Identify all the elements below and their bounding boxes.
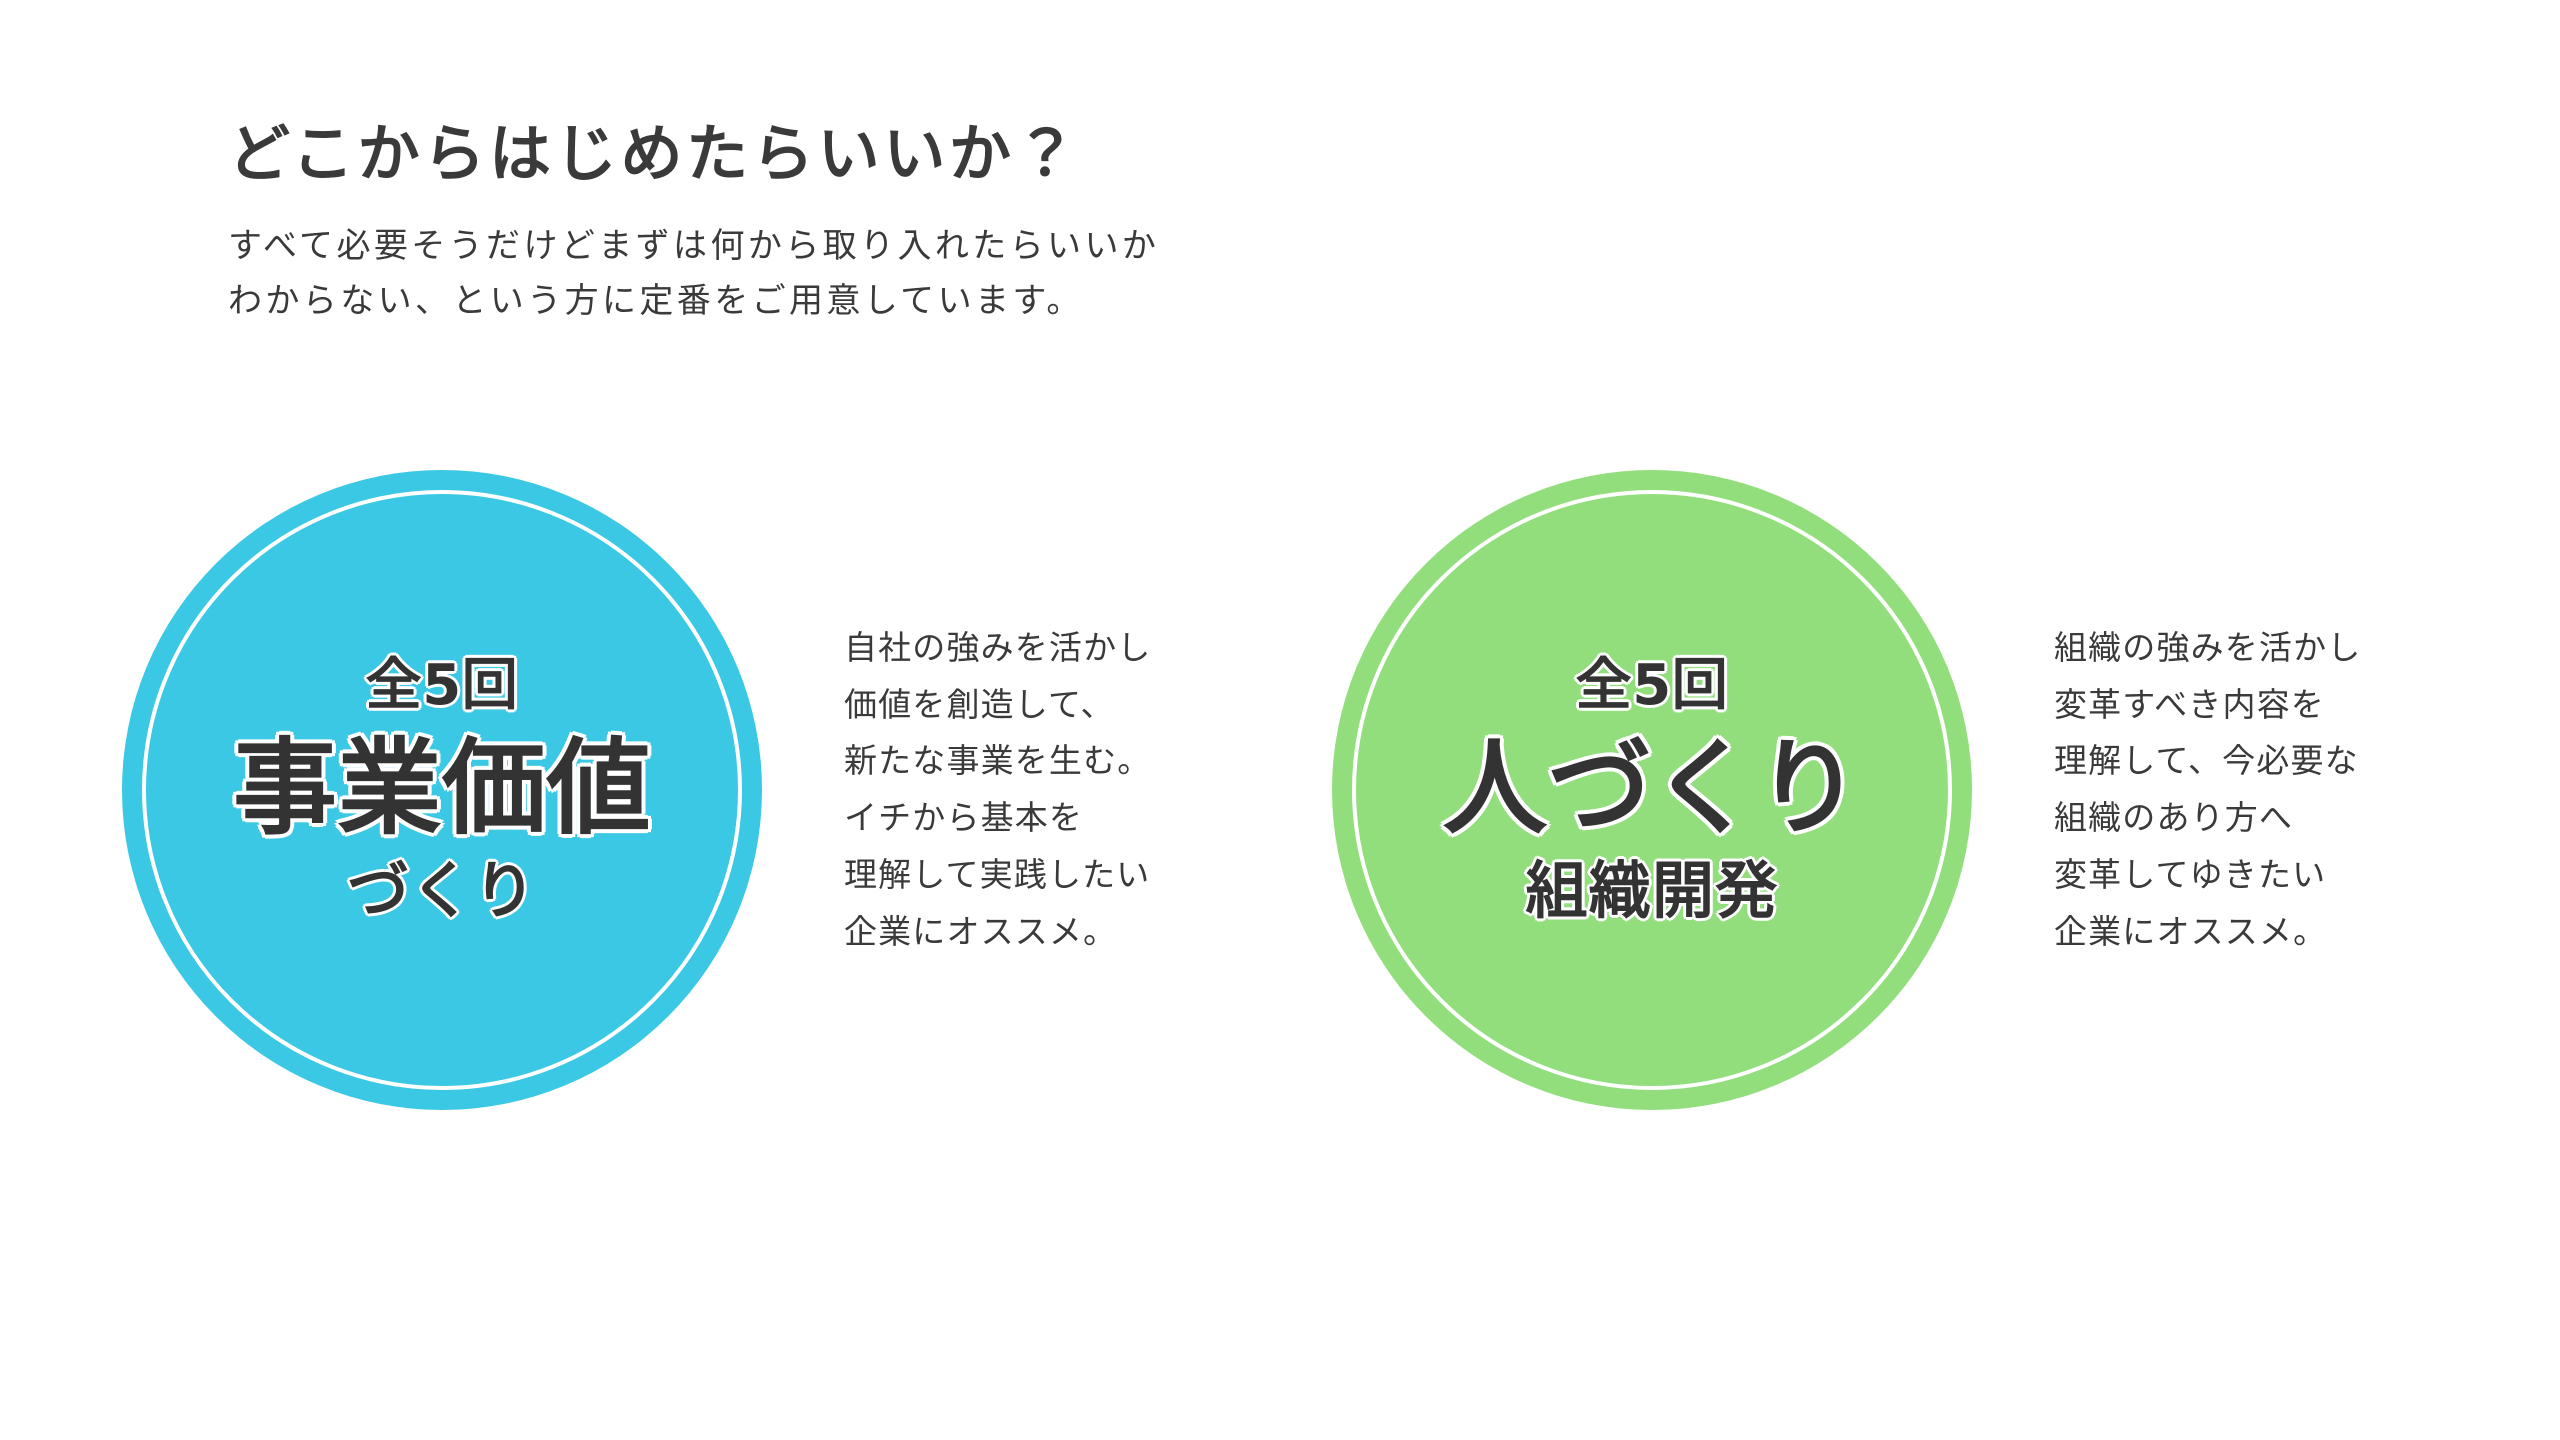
card-row: 全5回 事業価値 づくり 自社の強みを活かし 価値を創造して、 新たな事業を生む… (0, 470, 2560, 1130)
description-line: 新たな事業を生む。 (844, 733, 1151, 790)
header-block: どこからはじめたらいいか？ すべて必要そうだけどまずは何から取り入れたらいいか … (228, 118, 1628, 329)
card-business-value: 全5回 事業価値 づくり 自社の強みを活かし 価値を創造して、 新たな事業を生む… (122, 470, 1151, 1110)
badge-text-group: 全5回 人づくり 組織開発 (1443, 658, 1861, 922)
description-line: 組織のあり方へ (2054, 790, 2361, 847)
description-line: 理解して実践したい (844, 847, 1151, 904)
badge-people-development[interactable]: 全5回 人づくり 組織開発 (1332, 470, 1972, 1110)
badge-main-label: 人づくり (1443, 736, 1861, 840)
card-description-business-value: 自社の強みを活かし 価値を創造して、 新たな事業を生む。 イチから基本を 理解し… (844, 620, 1151, 961)
badge-kicker-label: 全5回 (1443, 658, 1861, 714)
description-line: イチから基本を (844, 790, 1151, 847)
card-description-people-development: 組織の強みを活かし 変革すべき内容を 理解して、今必要な 組織のあり方へ 変革し… (2054, 620, 2361, 961)
page-subtitle: すべて必要そうだけどまずは何から取り入れたらいいか わからない、という方に定番を… (228, 219, 1628, 329)
badge-sub-label: づくり (233, 860, 651, 922)
slide-canvas: どこからはじめたらいいか？ すべて必要そうだけどまずは何から取り入れたらいいか … (0, 0, 2560, 1440)
description-line: 企業にオススメ。 (2054, 904, 2361, 961)
page-title: どこからはじめたらいいか？ (228, 118, 1628, 189)
description-line: 価値を創造して、 (844, 677, 1151, 734)
description-line: 変革すべき内容を (2054, 677, 2361, 734)
description-line: 自社の強みを活かし (844, 620, 1151, 677)
description-line: 変革してゆきたい (2054, 847, 2361, 904)
badge-kicker-label: 全5回 (233, 658, 651, 714)
description-line: 組織の強みを活かし (2054, 620, 2361, 677)
description-line: 企業にオススメ。 (844, 904, 1151, 961)
badge-text-group: 全5回 事業価値 づくり (233, 658, 651, 922)
page-subtitle-line-1: すべて必要そうだけどまずは何から取り入れたらいいか (228, 219, 1628, 274)
badge-main-label: 事業価値 (233, 736, 651, 840)
badge-sub-label: 組織開発 (1443, 860, 1861, 922)
page-subtitle-line-2: わからない、という方に定番をご用意しています。 (228, 274, 1628, 329)
card-people-development: 全5回 人づくり 組織開発 組織の強みを活かし 変革すべき内容を 理解して、今必… (1332, 470, 2361, 1110)
badge-business-value[interactable]: 全5回 事業価値 づくり (122, 470, 762, 1110)
description-line: 理解して、今必要な (2054, 733, 2361, 790)
